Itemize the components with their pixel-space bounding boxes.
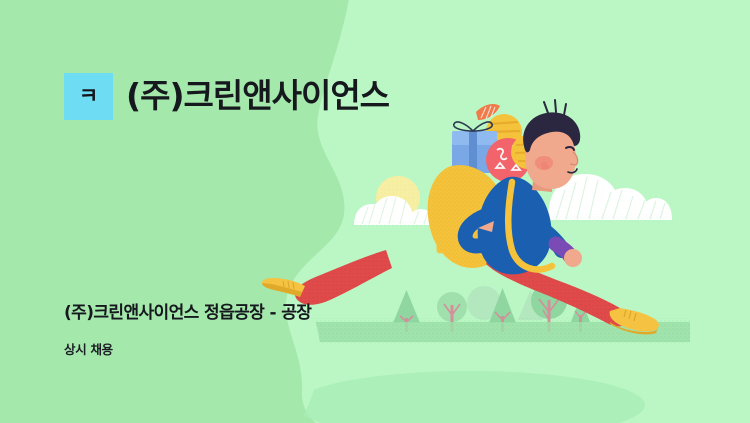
- company-name: (주)크린앤사이언스: [126, 78, 389, 114]
- job-status-badge: 상시 채용: [64, 339, 311, 358]
- job-info-block: (주)크린앤사이언스 정읍공장 - 공장 상시 채용: [64, 302, 311, 358]
- job-posting-card: ㅋ (주)크린앤사이언스 (주)크린앤사이언스 정읍공장 - 공장 상시 채용: [0, 0, 750, 423]
- company-logo-glyph: ㅋ: [79, 86, 98, 107]
- illustration-running-man-with-gift-sack: [0, 0, 750, 423]
- company-header: ㅋ (주)크린앤사이언스: [64, 73, 389, 120]
- job-title: (주)크린앤사이언스 정읍공장 - 공장: [64, 302, 311, 324]
- company-logo-square: ㅋ: [64, 73, 113, 120]
